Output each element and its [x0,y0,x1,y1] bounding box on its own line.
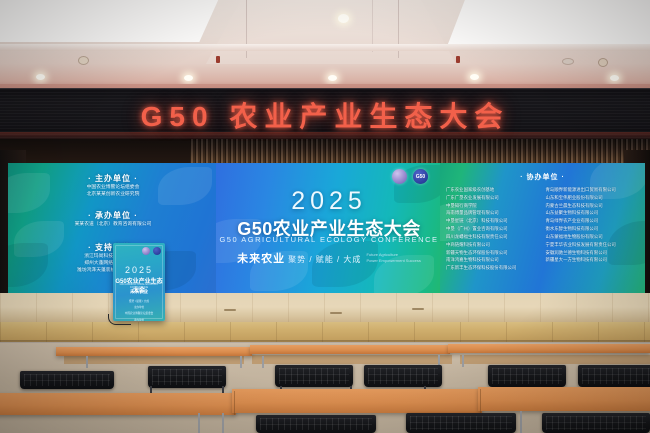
smoke-detector-icon [562,58,574,65]
sponsor-item: 海南博量品牌管理有限公司 [446,209,540,217]
table-row1[interactable] [56,347,252,356]
floor-vent [224,309,236,311]
podium[interactable]: 2025 G50农业产业生态大会 G50 AGRICULTURAL ECOLOG… [113,243,165,321]
sponsor-item: 青岛顺界新能源进出口贸易有限公司 [546,186,640,194]
table-row1[interactable] [448,344,650,353]
left-section-org-1-0: 某某农道（北京）教育咨询有限公司 [8,222,218,229]
sponsor-item: 广东广垦农业发展有限公司 [446,194,540,202]
table-shelf [460,355,650,364]
sponsor-item: 衡水东醇生物科技有限公司 [546,225,640,233]
sponsor-item: 青岛绿界农产业业有限公司 [546,217,640,225]
podium-year: 2025 [113,265,165,275]
sponsor-item: 中垦（广州）置业咨询有限公司 [446,225,540,233]
g50-logo: G50 [413,169,428,184]
table-leg [520,411,522,433]
podium-cable [108,314,131,325]
ceiling-soffit [206,0,456,64]
association-emblem-logo [392,169,407,184]
slogan-en-line2: Power Empowerment Success [366,258,420,263]
sponsor-item: 新疆星大一方生物科技有限公司 [546,256,640,264]
stage-floor [0,293,650,324]
sponsor-item: 广东农业国家级农创基地 [446,186,540,194]
led-banner-text: G50 农业产业生态大会 [141,95,510,135]
audience-floor [0,343,650,433]
sponsor-column-right: 青岛顺界新能源进出口贸易有限公司 山东和宝伟肥业股份有限公司 内蒙古兰晨生态科技… [546,186,640,272]
ceiling-downlight [36,74,45,80]
event-year: 2025 [216,187,442,216]
ceiling-speaker-icon [598,58,608,67]
ceiling-downlight [610,75,619,81]
left-section-org-0-0: 中国农业博鳌论坛组委会 [8,185,218,192]
table-shelf [64,355,244,364]
sponsor-item: 山东益聚生物科技有限公司 [546,209,640,217]
sprinkler-icon [216,56,220,63]
stage-backdrop: · 主办单位 · 中国农业博鳌论坛组委会 北京某某创新农业研究院 · 承办单位 … [0,163,650,296]
table-seam [480,389,481,413]
chair-backrest [406,413,516,433]
ceiling-downlight [328,75,337,81]
event-title-en: G50 AGRICULTURAL ECOLOGY CONFERENCE [216,235,442,244]
left-section-label-0: · 主办单位 · [8,173,218,184]
chair-backrest [578,365,650,387]
table-row2[interactable] [0,393,236,415]
sponsor-item: 中垦知行商学院 [446,202,540,210]
ceiling-speaker-icon [78,56,89,65]
conference-hall-photo: G50 农业产业生态大会 · 主办单位 · 中国农业博鳌论坛组委会 北京某某创新… [0,0,650,433]
chair[interactable] [542,413,650,433]
table-row2[interactable] [232,389,482,413]
table-row1[interactable] [250,345,450,354]
chair[interactable] [406,413,516,433]
association-emblem-logo [142,247,150,255]
ceiling-downlight [184,75,193,81]
chair-backrest [20,371,114,389]
podium-logo-group [142,247,161,255]
table-leg [262,356,264,368]
sponsor-item: 安徽润驰兰德生物科技有限公司 [546,249,640,257]
backdrop-panel-right: · 协办单位 · 广东农业国家级农创基地 广东广垦农业发展有限公司 中垦知行商学… [440,163,645,293]
table-leg [240,356,242,368]
chair[interactable] [256,415,376,433]
podium-slogan: 未来农业 [113,289,165,295]
slogan-en: Future AgriculturePower Empowerment Succ… [366,252,420,264]
slogan-row: 未来农业聚势 / 赋能 / 大成Future AgriculturePower … [216,249,442,267]
sponsor-item: 广东新丰生态环保科技股份有限公司 [446,264,540,272]
sponsor-item: 中商链耀科技有限公司 [446,241,540,249]
ceiling-light-panel-left [0,0,220,42]
ceiling [0,0,650,88]
sponsor-item: 中垦星链（北京）科技有限公司 [446,217,540,225]
chair-backrest [542,413,650,433]
slogan-sub: 聚势 / 赋能 / 大成 [288,255,361,264]
chair-backrest [256,415,376,433]
table-leg [222,413,224,433]
chair-backrest [148,366,226,388]
table-leg [198,413,200,433]
chair-backrest [364,365,442,387]
table-seam [234,391,235,415]
sprinkler-icon [456,56,460,63]
slogan-en-line1: Future Agriculture [366,252,398,257]
sponsor-item: 新疆天物生态环保股份有限公司 [446,249,540,257]
sponsor-columns: 广东农业国家级农创基地 广东广垦农业发展有限公司 中垦知行商学院 海南博量品牌管… [446,186,639,272]
left-section-label-1: · 承办单位 · [8,210,218,221]
sponsor-item: 山东蒙福地生物股份有限公司 [546,233,640,241]
slogan-cn: 未来农业 [237,253,285,265]
ceiling-cornice [0,44,650,51]
sponsor-section-label: · 协办单位 · [440,172,645,182]
backdrop-panel-center: G50 2025 G50农业产业生态大会 G50 AGRICULTURAL EC… [216,163,442,294]
chair-backrest [275,365,353,387]
sponsor-item: 宁夏丰华农业科技发展有限责任公司 [546,241,640,249]
ceiling-downlight [470,74,479,80]
stage-curtain-left [0,139,190,165]
table-leg [86,356,88,368]
chair-backrest [488,365,566,387]
table-shelf [252,355,452,364]
sponsor-item: 南洋鸿嘉生物科技有限公司 [446,256,540,264]
g50-logo [153,247,161,255]
table-leg [462,355,464,367]
chair[interactable] [148,366,226,388]
chair[interactable] [488,365,566,387]
sponsor-column-left: 广东农业国家级农创基地 广东广垦农业发展有限公司 中垦知行商学院 海南博量品牌管… [446,186,540,272]
chair[interactable] [20,371,114,389]
chair[interactable] [275,365,353,387]
logo-group: G50 [392,169,428,184]
chair[interactable] [364,365,442,387]
left-section-org-0-1: 北京某某创新农业研究院 [8,192,218,199]
sponsor-item: 四川龙蟠福生科技有限责任公司 [446,233,540,241]
table-row2[interactable] [478,387,650,411]
chair[interactable] [578,365,650,387]
sponsor-item: 山东和宝伟肥业股份有限公司 [546,194,640,202]
stage-front-edge [0,322,650,342]
floor-vent [330,312,342,314]
ceiling-light-panel-right [448,0,650,44]
floor-vent [412,308,424,310]
sponsor-item: 内蒙古兰晨生态科技有限公司 [546,202,640,210]
ceiling-downlight [338,14,349,23]
